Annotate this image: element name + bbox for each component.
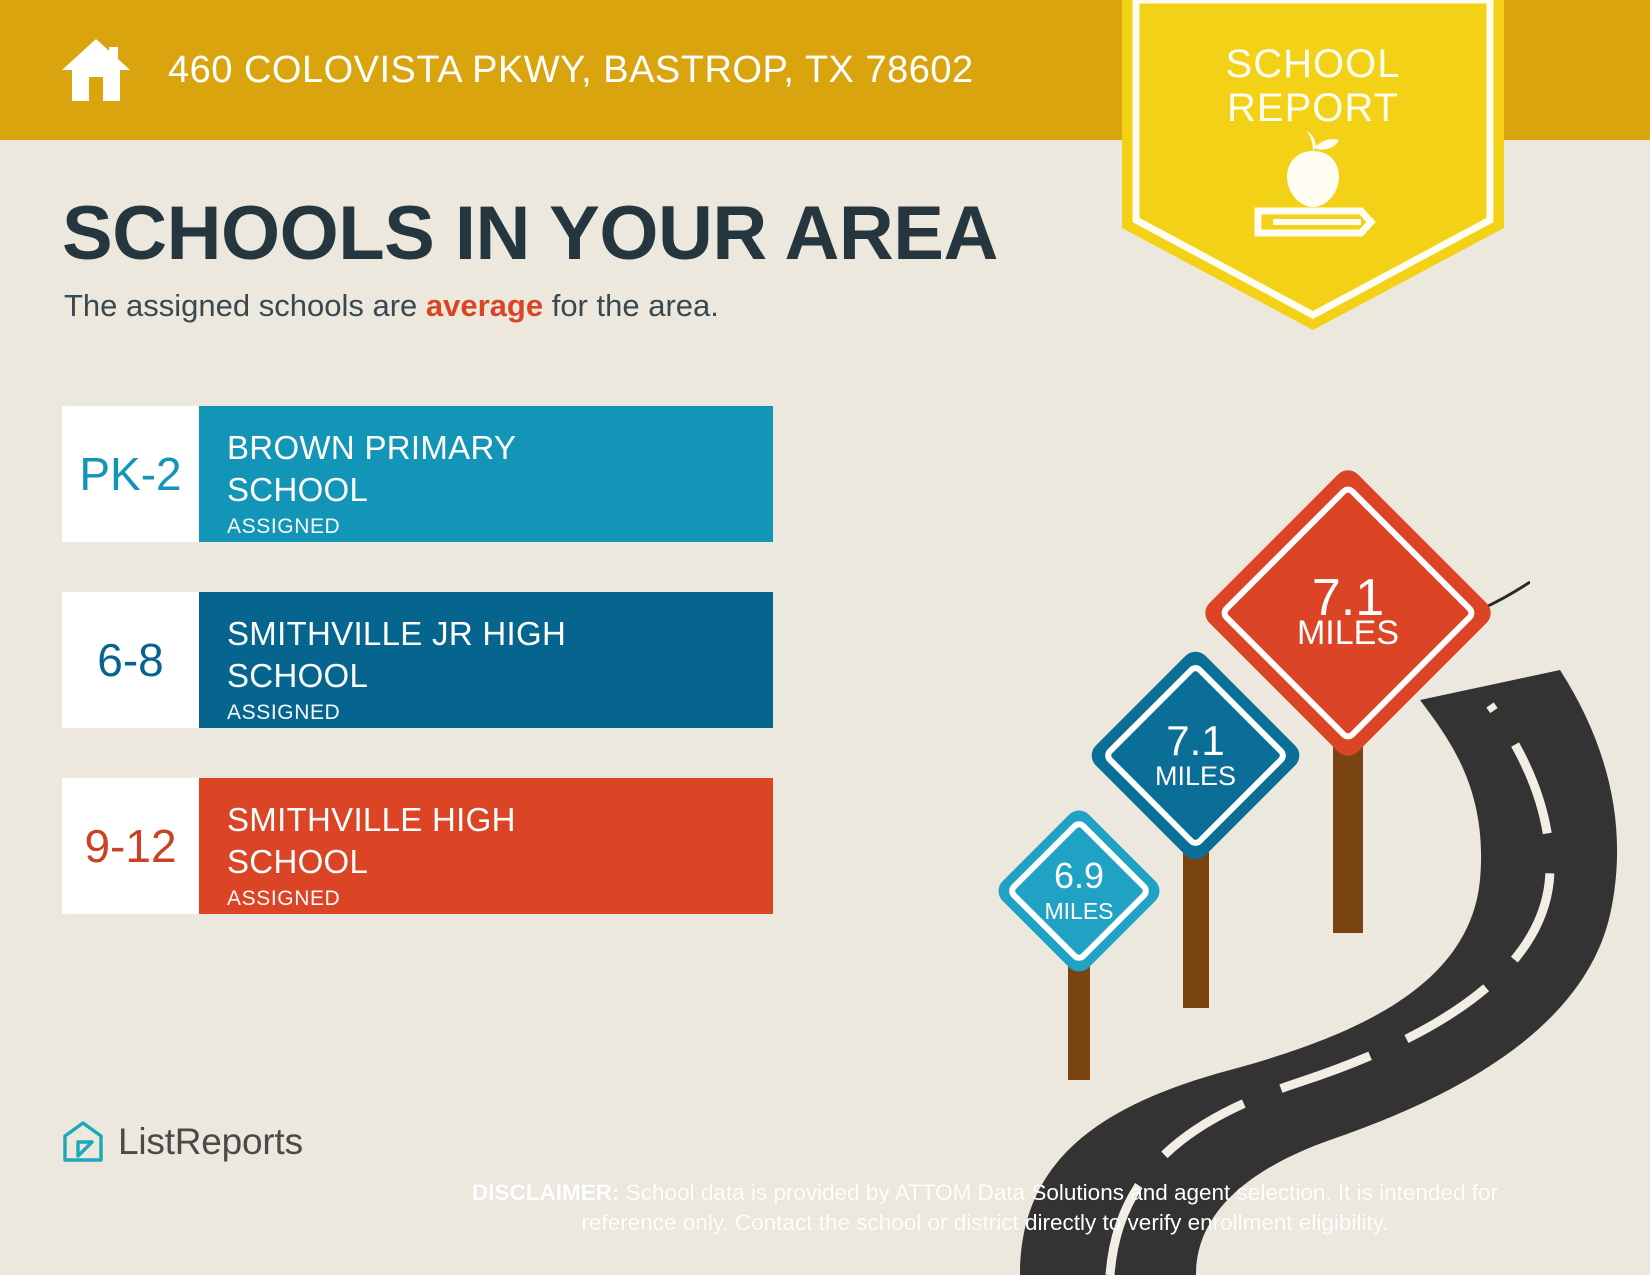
school-name: BROWN PRIMARY SCHOOL	[227, 427, 773, 511]
disclaimer-text: DISCLAIMER: School data is provided by A…	[455, 1178, 1515, 1238]
school-name-line-2: SCHOOL	[227, 471, 368, 508]
school-row[interactable]: 9-12 SMITHVILLE HIGH SCHOOL ASSIGNED	[62, 778, 773, 914]
badge-title: SCHOOL REPORT	[1122, 42, 1504, 130]
school-list: PK-2 BROWN PRIMARY SCHOOL ASSIGNED 6-8 S…	[62, 406, 773, 964]
school-report-page: 460 COLOVISTA PKWY, BASTROP, TX 78602 SC…	[0, 0, 1650, 1275]
school-status: ASSIGNED	[227, 887, 773, 911]
school-row[interactable]: 6-8 SMITHVILLE JR HIGH SCHOOL ASSIGNED	[62, 592, 773, 728]
listreports-logo[interactable]: ListReports	[62, 1120, 303, 1164]
school-name: SMITHVILLE HIGH SCHOOL	[227, 799, 773, 883]
disclaimer-body: School data is provided by ATTOM Data So…	[581, 1180, 1497, 1235]
grade-range-badge: 6-8	[62, 592, 199, 728]
school-name-line-2: SCHOOL	[227, 843, 368, 880]
school-info: BROWN PRIMARY SCHOOL ASSIGNED	[199, 406, 773, 542]
grade-range-badge: 9-12	[62, 778, 199, 914]
school-info: SMITHVILLE JR HIGH SCHOOL ASSIGNED	[199, 592, 773, 728]
school-info: SMITHVILLE HIGH SCHOOL ASSIGNED	[199, 778, 773, 914]
school-row[interactable]: PK-2 BROWN PRIMARY SCHOOL ASSIGNED	[62, 406, 773, 542]
disclaimer-label: DISCLAIMER:	[472, 1180, 620, 1205]
listreports-house-icon	[62, 1120, 104, 1164]
diamond-sign-shape	[1200, 465, 1497, 762]
listreports-wordmark: ListReports	[118, 1121, 303, 1163]
badge-line-1: SCHOOL	[1122, 42, 1504, 86]
school-name: SMITHVILLE JR HIGH SCHOOL	[227, 613, 773, 697]
distance-sign[interactable]: 7.1 MILES	[1243, 508, 1453, 898]
school-name-line-1: BROWN PRIMARY	[227, 429, 516, 466]
school-name-line-2: SCHOOL	[227, 657, 368, 694]
school-report-badge: SCHOOL REPORT	[1122, 0, 1504, 330]
grade-range-badge: PK-2	[62, 406, 199, 542]
school-status: ASSIGNED	[227, 701, 773, 725]
school-name-line-1: SMITHVILLE HIGH	[227, 801, 516, 838]
school-status: ASSIGNED	[227, 515, 773, 539]
badge-line-2: REPORT	[1122, 86, 1504, 130]
school-name-line-1: SMITHVILLE JR HIGH	[227, 615, 566, 652]
sign-inner-border	[1218, 483, 1478, 743]
